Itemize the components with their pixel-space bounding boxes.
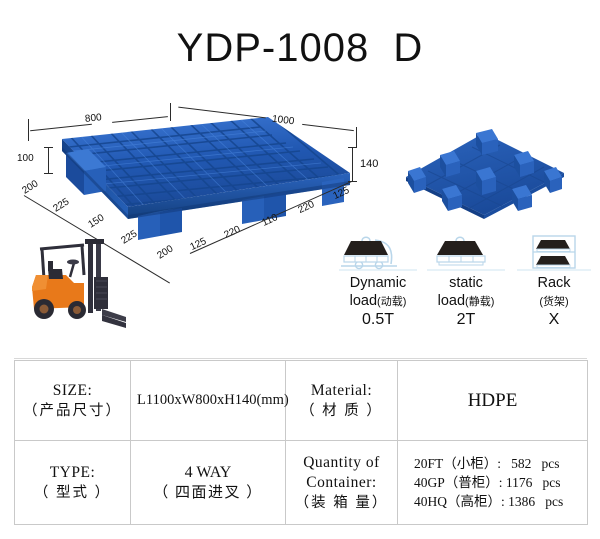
cell-type-value: 4 WAY （ 四面进叉 ） xyxy=(131,441,286,525)
cell-quantity-values: 20FT（小柜）: 582 pcs 40GP（普柜）: 1176 pcs 40H… xyxy=(398,441,588,525)
load-spec-rack: Rack (货架) X xyxy=(511,232,597,329)
dimension-tick-100-top xyxy=(44,147,53,148)
load-spec-dynamic: Dynamic load(动载) 0.5T xyxy=(335,232,421,329)
dimension-tick-800-right xyxy=(170,103,171,121)
rack-load-icon xyxy=(511,232,597,274)
size-label-en: SIZE: xyxy=(21,381,124,401)
product-spec-sheet: YDP-1008 D xyxy=(0,0,600,539)
static-load-icon xyxy=(423,232,509,274)
type-label-cn: （ 型式 ） xyxy=(21,483,124,503)
static-load-label: static xyxy=(423,276,509,292)
dimension-140: 140 xyxy=(360,158,378,170)
rack-load-label: Rack xyxy=(511,276,597,292)
quantity-label-en1: Quantity of xyxy=(292,453,391,473)
dimension-tick-800-left xyxy=(28,119,29,141)
cell-type-label: TYPE: （ 型式 ） xyxy=(15,441,131,525)
static-load-label-cn: (静载) xyxy=(465,296,494,308)
dynamic-load-value: 0.5T xyxy=(335,311,421,329)
quantity-40gp: 40GP（普柜）: 1176 pcs xyxy=(404,473,581,492)
quantity-label-cn: （装 箱 量） xyxy=(292,493,391,513)
quantity-40hq: 40HQ（高柜）: 1386 pcs xyxy=(404,492,581,511)
type-value-cn: （ 四面进叉 ） xyxy=(137,483,279,504)
dimension-line-140 xyxy=(352,147,353,181)
dimension-tick-100-bottom xyxy=(44,173,53,174)
table-row-size: SIZE: （产品尺寸） L1100xW800xH140(mm) Materia… xyxy=(15,361,588,441)
type-value-en: 4 WAY xyxy=(137,462,279,483)
cell-material-value: HDPE xyxy=(398,361,588,441)
quantity-20ft: 20FT（小柜）: 582 pcs xyxy=(404,454,581,473)
table-top-rule xyxy=(14,358,587,359)
dynamic-load-label-en2: load xyxy=(350,293,377,309)
dynamic-load-label-en1: Dynamic xyxy=(350,275,406,291)
material-label-cn: （ 材 质 ） xyxy=(292,401,391,421)
type-label-en: TYPE: xyxy=(21,463,124,483)
size-label-cn: （产品尺寸） xyxy=(21,401,124,421)
cell-material-label: Material: （ 材 质 ） xyxy=(286,361,398,441)
static-load-label-en1: static xyxy=(449,275,483,291)
load-spec-static: static load(静载) 2T xyxy=(423,232,509,329)
page-title: YDP-1008 D xyxy=(0,26,600,71)
rack-load-label-en1: Rack xyxy=(537,275,570,291)
table-row-type: TYPE: （ 型式 ） 4 WAY （ 四面进叉 ） Quantity of … xyxy=(15,441,588,525)
quantity-label-en2: Container: xyxy=(292,473,391,493)
material-label-en: Material: xyxy=(292,381,391,401)
dynamic-load-icon xyxy=(335,232,421,274)
static-load-label-en2: load xyxy=(438,293,465,309)
cell-quantity-label: Quantity of Container: （装 箱 量） xyxy=(286,441,398,525)
dynamic-load-label: Dynamic xyxy=(335,276,421,292)
forklift-truck xyxy=(22,231,132,336)
rack-load-value: X xyxy=(511,311,597,329)
dimension-tick-1000-right xyxy=(356,127,357,147)
rack-load-label-2: (货架) xyxy=(511,294,597,311)
load-capacity-group: Dynamic load(动载) 0.5T xyxy=(335,232,595,344)
dimension-tick-140-top xyxy=(348,147,357,148)
static-load-value: 2T xyxy=(423,311,509,329)
cell-size-label: SIZE: （产品尺寸） xyxy=(15,361,131,441)
specification-table: SIZE: （产品尺寸） L1100xW800xH140(mm) Materia… xyxy=(14,360,588,525)
plastic-pallet-underside xyxy=(388,115,573,225)
rack-load-label-cn: (货架) xyxy=(539,296,568,308)
cell-size-value: L1100xW800xH140(mm) xyxy=(131,361,286,441)
dimension-line-100 xyxy=(48,147,49,173)
dynamic-load-label-cn: (动载) xyxy=(377,296,406,308)
dimension-800: 800 xyxy=(84,112,102,125)
dimension-100: 100 xyxy=(17,153,34,164)
dynamic-load-label-2: load(动载) xyxy=(335,294,421,311)
static-load-label-2: load(静载) xyxy=(423,294,509,311)
